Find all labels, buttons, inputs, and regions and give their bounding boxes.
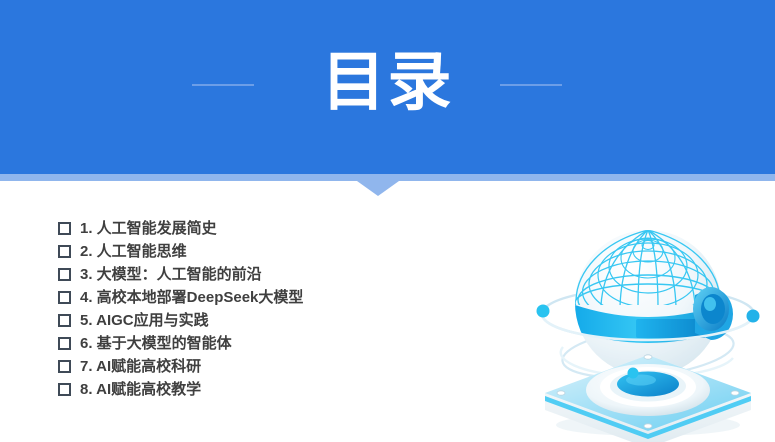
list-item[interactable]: 8. AI赋能高校教学 — [58, 378, 478, 401]
list-item-label: 7. AI赋能高校科研 — [80, 358, 201, 376]
list-item-label: 8. AI赋能高校教学 — [80, 381, 201, 399]
banner-strip — [0, 174, 775, 181]
checkbox-icon — [58, 314, 71, 327]
header-banner: 目录 — [0, 0, 775, 174]
list-item-label: 5. AIGC应用与实践 — [80, 312, 209, 330]
checkbox-icon — [58, 291, 71, 304]
slide-root: 目录 1. 人工智能发展简史 2. 人工智能思维 3. 大模型：人工智能的前沿 … — [0, 0, 775, 442]
down-arrow-icon — [357, 181, 399, 196]
list-item-label: 2. 人工智能思维 — [80, 243, 187, 261]
checkbox-icon — [58, 360, 71, 373]
checkbox-icon — [58, 383, 71, 396]
list-item[interactable]: 2. 人工智能思维 — [58, 240, 478, 263]
list-item-label: 1. 人工智能发展简史 — [80, 220, 217, 238]
list-item[interactable]: 6. 基于大模型的智能体 — [58, 332, 478, 355]
list-item-label: 3. 大模型：人工智能的前沿 — [80, 266, 262, 284]
list-item-label: 4. 高校本地部署DeepSeek大模型 — [80, 289, 303, 307]
list-item-label: 6. 基于大模型的智能体 — [80, 335, 232, 353]
list-item[interactable]: 4. 高校本地部署DeepSeek大模型 — [58, 286, 478, 309]
checkbox-icon — [58, 222, 71, 235]
checkbox-icon — [58, 245, 71, 258]
checkbox-icon — [58, 268, 71, 281]
ai-globe-device-illustration — [521, 192, 775, 442]
table-of-contents: 1. 人工智能发展简史 2. 人工智能思维 3. 大模型：人工智能的前沿 4. … — [58, 217, 478, 401]
checkbox-icon — [58, 337, 71, 350]
page-title: 目录 — [0, 47, 775, 117]
list-item[interactable]: 5. AIGC应用与实践 — [58, 309, 478, 332]
list-item[interactable]: 1. 人工智能发展简史 — [58, 217, 478, 240]
list-item[interactable]: 7. AI赋能高校科研 — [58, 355, 478, 378]
list-item[interactable]: 3. 大模型：人工智能的前沿 — [58, 263, 478, 286]
